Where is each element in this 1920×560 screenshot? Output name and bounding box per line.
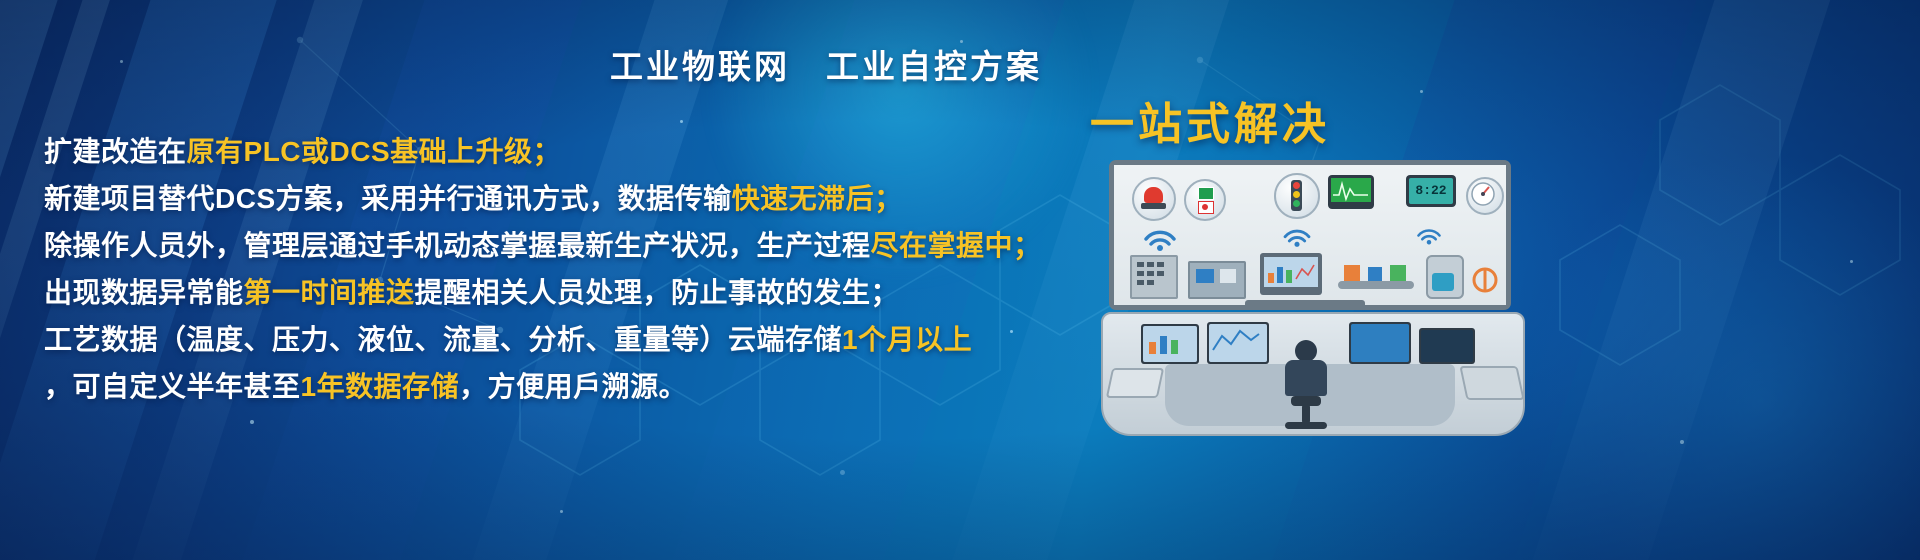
indicator-panel-icon xyxy=(1184,179,1226,221)
highlight-text: 1年数据存储 xyxy=(301,371,460,402)
wifi-icon xyxy=(1280,223,1314,252)
page-title: 工业物联网 工业自控方案 xyxy=(610,40,1080,88)
feature-line: 出现数据异常能第一时间推送提醒相关人员处理，防止事故的发生； xyxy=(44,269,1104,316)
chart-monitor-icon xyxy=(1260,253,1322,295)
wifi-icon xyxy=(1414,223,1444,250)
gauge-dial-icon xyxy=(1466,177,1504,215)
seated-operator-icon xyxy=(1295,340,1317,362)
banner-root: 工业物联网 工业自控方案 一站式解决 扩建改造在原有PLC或DCS基础上升级；新… xyxy=(0,0,1920,560)
body-text: 提醒相关人员处理，防止事故的发生； xyxy=(415,277,900,308)
server-rack-icon xyxy=(1130,255,1178,299)
highlight-text: 第一时间推送 xyxy=(244,277,415,308)
highlight-text: 原有PLC或DCS基础上升级； xyxy=(187,136,562,167)
highlight-text: 尽在掌握中； xyxy=(871,230,1042,261)
feature-line: 新建项目替代DCS方案，采用并行通讯方式，数据传输快速无滞后； xyxy=(44,175,1104,222)
digital-readout-value: 8:22 xyxy=(1409,178,1453,204)
wall-display-panel: 8:22 xyxy=(1109,160,1511,310)
keyboard-icon xyxy=(1106,368,1164,398)
body-text: 出现数据异常能 xyxy=(44,277,244,308)
machine-icon xyxy=(1188,261,1246,299)
control-room-illustration: 8:22 xyxy=(1095,152,1595,452)
feature-line: 除操作人员外，管理层通过手机动态掌握最新生产状况，生产过程尽在掌握中； xyxy=(44,222,1104,269)
laptop-screen xyxy=(1419,328,1475,364)
tank-icon xyxy=(1426,255,1464,299)
body-text: 除操作人员外，管理层通过手机动态掌握最新生产状况，生产过程 xyxy=(44,230,871,261)
data-screen xyxy=(1349,322,1411,364)
line-chart-screen xyxy=(1207,322,1269,364)
operator-body xyxy=(1285,360,1327,396)
alarm-light-icon xyxy=(1132,177,1176,221)
one-stop-heading: 一站式解决 xyxy=(1090,88,1330,152)
body-text: 扩建改造在 xyxy=(44,136,187,167)
wall-display-stand xyxy=(1245,300,1365,309)
feature-list: 扩建改造在原有PLC或DCS基础上升级；新建项目替代DCS方案，采用并行通讯方式… xyxy=(44,128,1104,410)
feature-line: 扩建改造在原有PLC或DCS基础上升级； xyxy=(44,128,1104,175)
body-text: ，可自定义半年甚至 xyxy=(44,371,301,402)
highlight-text: 1个月以上 xyxy=(842,324,972,355)
feature-line: 工艺数据（温度、压力、液位、流量、分析、重量等）云端存储1个月以上 xyxy=(44,316,1104,363)
digital-readout-icon: 8:22 xyxy=(1406,175,1456,207)
wifi-icon xyxy=(1140,223,1180,256)
valve-icon xyxy=(1470,265,1500,295)
feature-line: ，可自定义半年甚至1年数据存储，方便用戶溯源。 xyxy=(44,363,1104,410)
highlight-text: 快速无滞后； xyxy=(732,183,903,214)
body-text: 新建项目替代DCS方案，采用并行通讯方式，数据传输 xyxy=(44,183,732,214)
body-text: ，方便用戶溯源。 xyxy=(459,371,687,402)
bar-chart-screen xyxy=(1141,324,1199,364)
printer-icon xyxy=(1459,366,1524,400)
body-text: 工艺数据（温度、压力、液位、流量、分析、重量等）云端存储 xyxy=(44,324,842,355)
traffic-light-icon xyxy=(1274,173,1320,219)
waveform-monitor-icon xyxy=(1328,175,1374,209)
chair-post xyxy=(1302,404,1310,424)
chair-base xyxy=(1285,422,1327,429)
conveyor-icon xyxy=(1338,263,1414,295)
